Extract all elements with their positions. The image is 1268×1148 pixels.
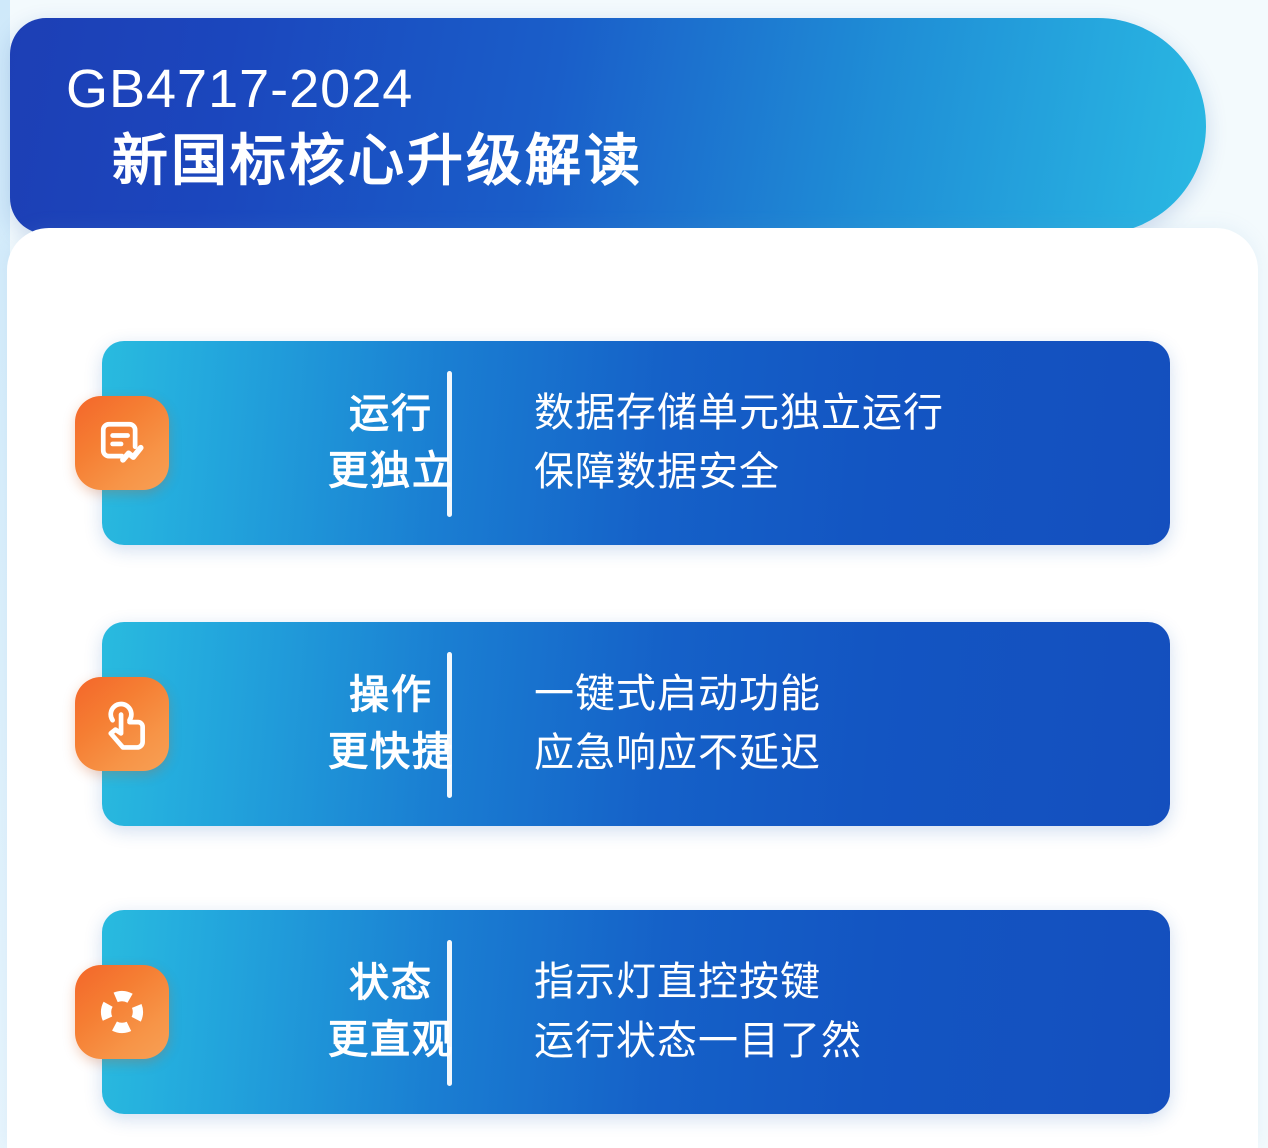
feature-description: 数据存储单元独立运行 保障数据安全 xyxy=(534,384,944,502)
content-panel: 运行 更独立 数据存储单元独立运行 保障数据安全 操作 更快捷 xyxy=(7,228,1258,1148)
feature-card[interactable]: 操作 更快捷 一键式启动功能 应急响应不延迟 xyxy=(102,622,1170,826)
card-divider xyxy=(447,652,452,798)
lifebuoy-status-icon xyxy=(75,965,169,1059)
tap-hand-icon xyxy=(75,677,169,771)
feature-label-line1: 操作 xyxy=(280,667,502,724)
feature-label-line2: 更快捷 xyxy=(280,724,502,781)
feature-label: 运行 更独立 xyxy=(280,386,502,500)
feature-description: 一键式启动功能 应急响应不延迟 xyxy=(534,665,821,783)
feature-label-line2: 更直观 xyxy=(280,1012,502,1069)
lifebuoy-status-glyph xyxy=(92,982,152,1042)
card-divider xyxy=(447,940,452,1086)
report-chart-icon xyxy=(75,396,169,490)
feature-label-line1: 状态 xyxy=(280,955,502,1012)
card-divider xyxy=(447,371,452,517)
tap-hand-glyph xyxy=(92,694,152,754)
feature-desc-line2: 应急响应不延迟 xyxy=(534,724,821,783)
feature-desc-line2: 保障数据安全 xyxy=(534,443,944,502)
feature-card-list: 运行 更独立 数据存储单元独立运行 保障数据安全 操作 更快捷 xyxy=(7,228,1258,1148)
feature-label: 状态 更直观 xyxy=(280,955,502,1069)
standard-code-title: GB4717-2024 xyxy=(66,58,1166,120)
feature-card[interactable]: 运行 更独立 数据存储单元独立运行 保障数据安全 xyxy=(102,341,1170,545)
report-chart-glyph xyxy=(92,413,152,473)
feature-desc-line2: 运行状态一目了然 xyxy=(534,1012,862,1071)
feature-desc-line1: 指示灯直控按键 xyxy=(534,953,862,1012)
header-banner: GB4717-2024 新国标核心升级解读 xyxy=(10,18,1206,234)
feature-desc-line1: 一键式启动功能 xyxy=(534,665,821,724)
feature-description: 指示灯直控按键 运行状态一目了然 xyxy=(534,953,862,1071)
feature-card[interactable]: 状态 更直观 指示灯直控按键 运行状态一目了然 xyxy=(102,910,1170,1114)
header-text-block: GB4717-2024 新国标核心升级解读 xyxy=(66,58,1166,194)
feature-label-line2: 更独立 xyxy=(280,443,502,500)
feature-label: 操作 更快捷 xyxy=(280,667,502,781)
feature-desc-line1: 数据存储单元独立运行 xyxy=(534,384,944,443)
page-title: 新国标核心升级解读 xyxy=(112,128,1166,194)
feature-label-line1: 运行 xyxy=(280,386,502,443)
